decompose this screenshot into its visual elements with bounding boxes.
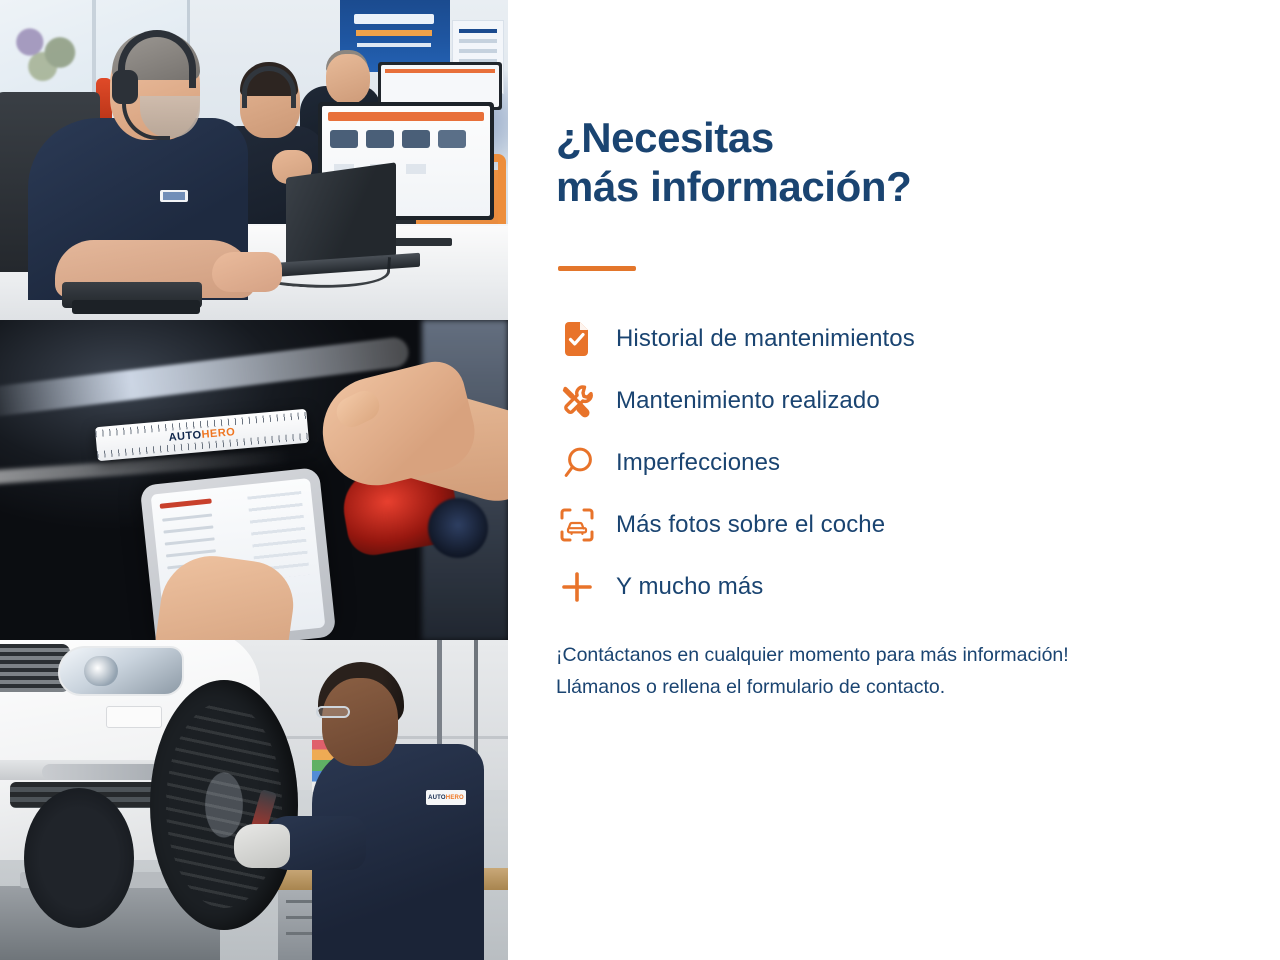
list-item-label: Y mucho más [616,573,763,601]
contact-text: ¡Contáctanos en cualquier momento para m… [556,640,1236,703]
list-item: Imperfecciones [554,432,1114,494]
workshop-tire-change-photo: AUTOHERO [0,640,508,960]
list-item-label: Historial de mantenimientos [616,325,915,353]
title-divider [558,266,636,271]
page-title: ¿Necesitas más información? [556,114,911,211]
mechanic-badge-hero: HERO [446,795,464,801]
mechanic-autohero-badge: AUTOHERO [426,790,466,805]
document-check-icon [554,322,600,356]
list-item: Historial de mantenimientos [554,308,1114,370]
contact-line-1: ¡Contáctanos en cualquier momento para m… [556,640,1236,672]
magnifier-icon [554,446,600,480]
list-item-label: Más fotos sobre el coche [616,511,885,539]
feature-list: Historial de mantenimientos [554,308,1114,618]
photo-column: AUTOHERO AUTOHERO [0,0,508,960]
mechanic-glove [234,824,290,868]
mechanic-head [322,678,398,766]
list-item: Más fotos sobre el coche [554,494,1114,556]
car-license-plate-blank [106,706,162,728]
mechanic-badge-auto: AUTO [428,795,446,801]
list-item: Y mucho más [554,556,1114,618]
car-wheel-tire [150,680,298,930]
list-item-label: Mantenimiento realizado [616,387,880,415]
car-reflection [428,498,488,558]
contact-line-2: Llámanos o rellena el formulario de cont… [556,672,1236,704]
desk-tablet [72,300,200,314]
list-item: Mantenimiento realizado [554,370,1114,432]
tire-lower-section [24,788,134,928]
call-center-agents-photo [0,0,508,320]
mechanic-glasses [316,706,350,718]
agent-1-logo-badge [160,190,188,202]
info-promo-page: AUTOHERO AUTOHERO [0,0,1280,960]
window-greenery [4,14,90,84]
agent-3-head [326,54,370,104]
tools-wrench-screwdriver-icon [554,384,600,418]
car-headlight [58,646,184,696]
content-panel: ¿Necesitas más información? Historial de… [508,0,1280,960]
list-item-label: Imperfecciones [616,449,780,477]
car-inspection-ruler-photo: AUTOHERO [0,320,508,640]
plus-icon [554,571,600,603]
car-scan-frame-icon [554,508,600,542]
agent-1-hand [212,252,282,292]
